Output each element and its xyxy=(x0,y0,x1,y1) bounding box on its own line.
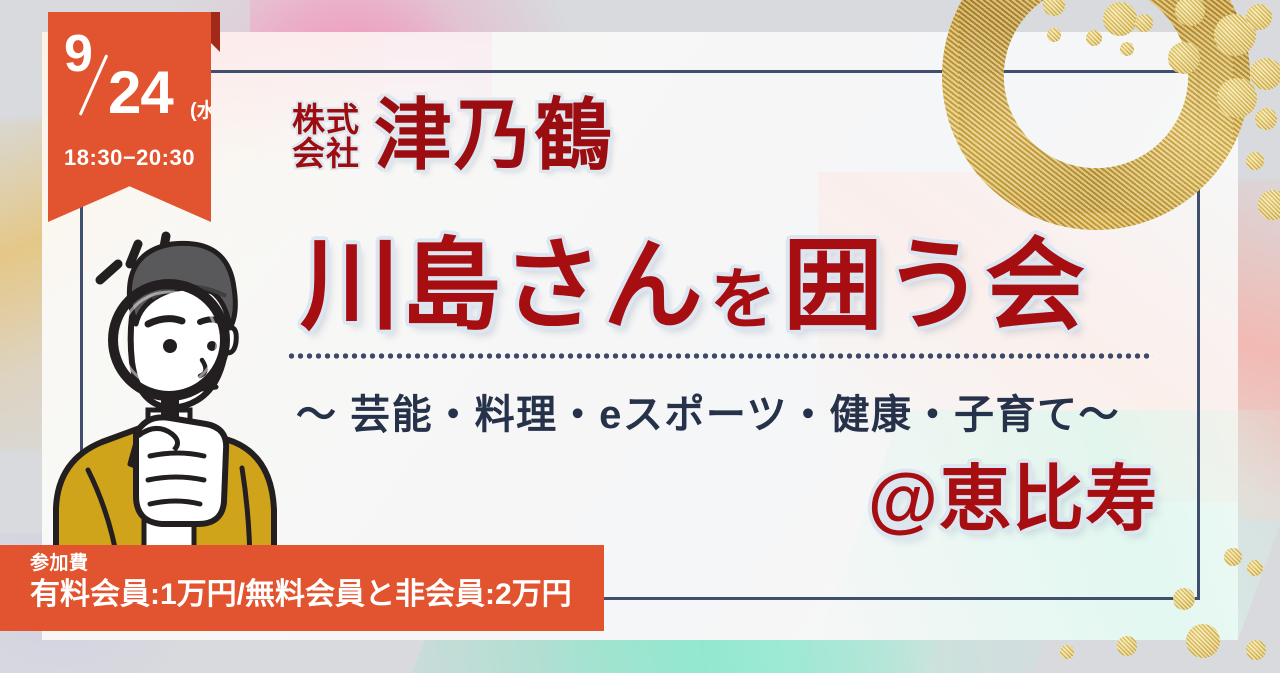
fee-value: 有料会員:1万円/無料会員と非会員:2万円 xyxy=(30,576,604,614)
gold-confetti-dot xyxy=(1246,152,1264,170)
gold-confetti-dot xyxy=(1186,624,1220,658)
gold-confetti-dot xyxy=(1047,28,1061,42)
gold-confetti-dot xyxy=(1246,4,1272,30)
participation-fee-banner: 参加費 有料会員:1万円/無料会員と非会員:2万円 xyxy=(0,545,604,631)
page-title: 川島さん を 囲う会 xyxy=(300,236,1086,336)
gold-confetti-dot xyxy=(1117,636,1137,656)
gold-confetti-dot xyxy=(1247,560,1263,576)
gold-confetti-dot xyxy=(1250,58,1280,90)
event-venue: @恵比寿 xyxy=(868,464,1158,536)
gold-confetti-dot xyxy=(1135,14,1153,32)
ribbon-date-group: 9 24 (水) xyxy=(48,26,211,136)
gold-confetti-dot xyxy=(1246,640,1266,660)
title-part-2: 囲う会 xyxy=(783,236,1086,336)
company-prefix-line-2: 会社 xyxy=(292,137,360,171)
fee-label: 参加費 xyxy=(30,553,604,576)
company-prefix-line-1: 株式 xyxy=(292,103,360,137)
event-day: 24 xyxy=(108,63,173,123)
gold-confetti-dot xyxy=(1258,190,1280,220)
company-prefix: 株式 会社 xyxy=(292,103,360,171)
dotted-divider xyxy=(287,352,1153,360)
event-month: 9 xyxy=(64,28,92,80)
eye-left xyxy=(163,339,177,353)
gold-confetti-dot xyxy=(1168,42,1200,74)
gold-confetti-dot xyxy=(1224,548,1242,566)
event-banner: 9 24 (水) 18:30−20:30 株式 会社 津乃鶴 川島さん を 囲う… xyxy=(0,0,1280,673)
company-name: 津乃鶴 xyxy=(374,96,614,174)
gold-confetti-dot xyxy=(1086,30,1102,46)
gold-confetti-dot xyxy=(1217,78,1257,118)
gold-confetti-dot xyxy=(1060,645,1074,659)
company-line: 株式 会社 津乃鶴 xyxy=(292,96,614,174)
gold-confetti-dot xyxy=(1173,588,1195,610)
event-time: 18:30−20:30 xyxy=(48,145,211,171)
title-particle: を xyxy=(704,266,783,336)
gold-confetti-dot xyxy=(1120,42,1134,56)
title-part-1: 川島さん xyxy=(300,236,704,336)
event-subtitle: 〜 芸能・料理・eスポーツ・健康・子育て〜 xyxy=(296,382,1146,440)
gold-confetti-dot xyxy=(1103,2,1137,36)
gold-confetti-dot xyxy=(1255,108,1277,130)
